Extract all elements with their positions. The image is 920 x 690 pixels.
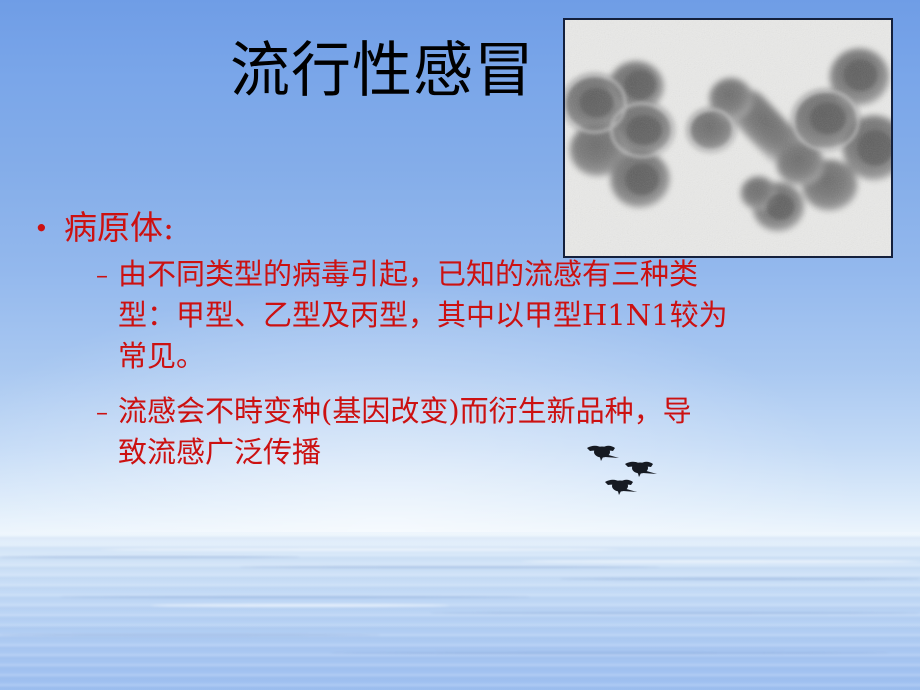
bullet-level1: • 病原体: [34,206,894,252]
bullet-level2-text: 由不同类型的病毒引起，已知的流感有三种类 型：甲型、乙型及丙型，其中以甲型H1N… [118,254,894,377]
bullet-level2: – 流感会不時变种(基因改变)而衍生新品种，导 致流感广泛传播 [96,391,894,473]
wave-streak [60,596,530,598]
dash-marker-icon: – [96,391,118,433]
text-line: 流感会不時变种(基因改变)而衍生新品种，导 [118,391,894,432]
text-line: 致流感广泛传播 [118,432,894,473]
wave-highlight [100,548,620,551]
bullet-level2-text: 流感会不時变种(基因改变)而衍生新品种，导 致流感广泛传播 [118,391,894,473]
wave-streak [0,634,380,636]
bullet-level2: – 由不同类型的病毒引起，已知的流感有三种类 型：甲型、乙型及丙型，其中以甲型H… [96,254,894,377]
presentation-slide: 流行性感冒 [0,0,920,690]
paragraph-spacer [34,377,894,389]
flying-birds-silhouette [575,440,695,502]
slide-title: 流行性感冒 [230,36,560,106]
wave-streak [240,566,660,568]
dash-marker-icon: – [96,254,118,296]
slide-body: • 病原体: – 由不同类型的病毒引起，已知的流感有三种类 型：甲型、乙型及丙型… [34,206,894,473]
wave-streak [330,652,890,654]
wave-streak [0,556,300,558]
text-line: 常见。 [118,336,894,377]
wave-highlight [520,560,920,563]
wave-streak [560,578,920,580]
text-line: 型：甲型、乙型及丙型，其中以甲型H1N1较为 [118,295,894,336]
bullet-marker-icon: • [34,206,64,252]
bullet-level1-text: 病原体: [64,206,174,250]
wave-highlight [150,604,450,607]
wave-streak [430,612,920,614]
text-line: 由不同类型的病毒引起，已知的流感有三种类 [118,254,894,295]
